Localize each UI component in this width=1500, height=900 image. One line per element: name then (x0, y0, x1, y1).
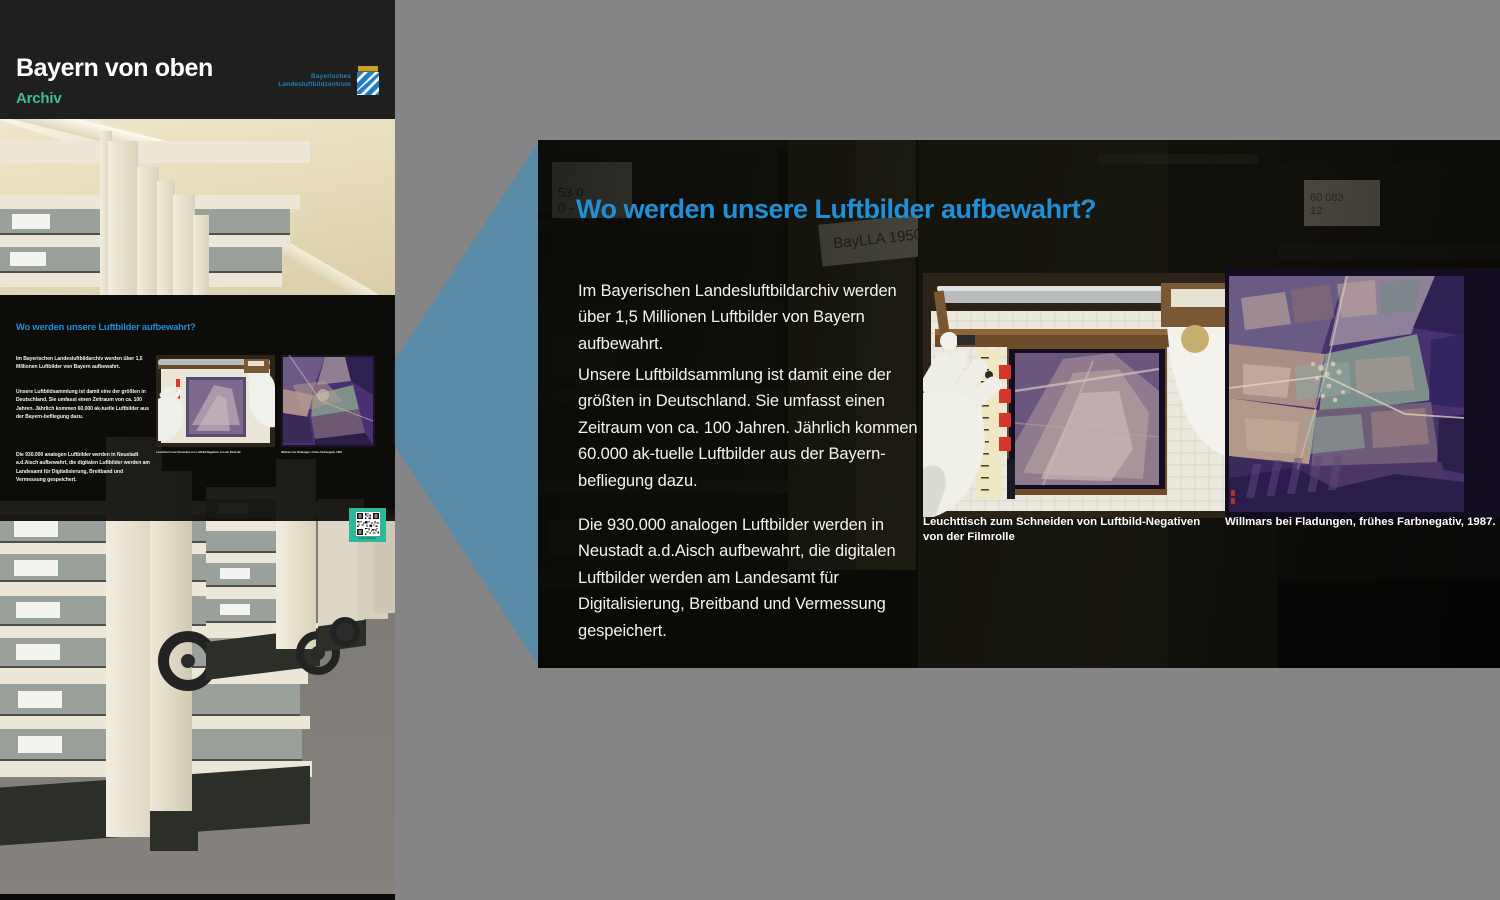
poster-bottom-strip (0, 894, 395, 900)
poster-paragraph-2: Unsere Luftbildsammlung ist damit eine d… (16, 388, 151, 421)
poster-panel: mehr erfahren Luftbildarchiv mit rollbar… (0, 0, 395, 900)
figure-light-table (923, 273, 1243, 518)
poster-header: Bayern von oben Archiv Bayerisches Lande… (0, 0, 395, 119)
main-paragraph-2: Unsere Luftbildsammlung ist damit eine d… (578, 362, 928, 494)
blue-callout-arrow (393, 138, 541, 670)
shelf-top (0, 141, 310, 163)
main-paragraph-1: Im Bayerischen Landesluftbildarchiv werd… (578, 278, 928, 357)
page-title: Bayern von oben (16, 56, 213, 81)
figure-caption-2: Willmars bei Fladungen, frühes Farbnegat… (1225, 515, 1500, 530)
qr-badge-caption: mehr erfahren (352, 537, 383, 540)
figure-aerial-false-color (1225, 268, 1500, 518)
qr-code-badge[interactable]: mehr erfahren (349, 508, 386, 542)
poster-figure-aerial-negative (281, 355, 375, 447)
poster-content-slide: Luftbildarchiv mit rollbaren Regalanlage… (0, 303, 395, 521)
box-label (10, 252, 46, 266)
box-label (12, 214, 50, 229)
poster-figure-caption-2: Willmars bei Fladungen, frühes Farbnegat… (281, 451, 376, 455)
logo-text: Bayerisches Landesluftbildzentrum (278, 73, 351, 89)
brand-logo: Bayerisches Landesluftbildzentrum (278, 66, 381, 96)
qr-code-icon (356, 512, 380, 536)
main-content-panel: 53 00 - 110555 - 13117 BayLLA 1950er (538, 140, 1500, 668)
page-subtitle: Archiv (16, 91, 62, 106)
figure-caption-1: Leuchttisch zum Schneiden von Luftbild-N… (923, 515, 1223, 546)
poster-figure-light-table (156, 355, 275, 447)
main-heading: Wo werden unsere Luftbilder aufbewahrt? (576, 194, 1096, 225)
poster-paragraph-1: Im Bayerischen Landesluftbildarchiv werd… (16, 355, 151, 372)
main-paragraph-3: Die 930.000 analogen Luftbilder werden i… (578, 512, 928, 644)
screenshot-root: mehr erfahren Luftbildarchiv mit rollbar… (0, 0, 1500, 900)
poster-paragraph-3: Die 930.000 analogen Luftbilder werden i… (16, 451, 151, 484)
poster-figure-caption-1: Leuchttisch zum Schneiden von Luftbild-N… (156, 451, 276, 455)
poster-slide-heading: Wo werden unsere Luftbilder aufbewahrt? (16, 321, 196, 332)
bavaria-coat-of-arms-icon (355, 66, 381, 96)
